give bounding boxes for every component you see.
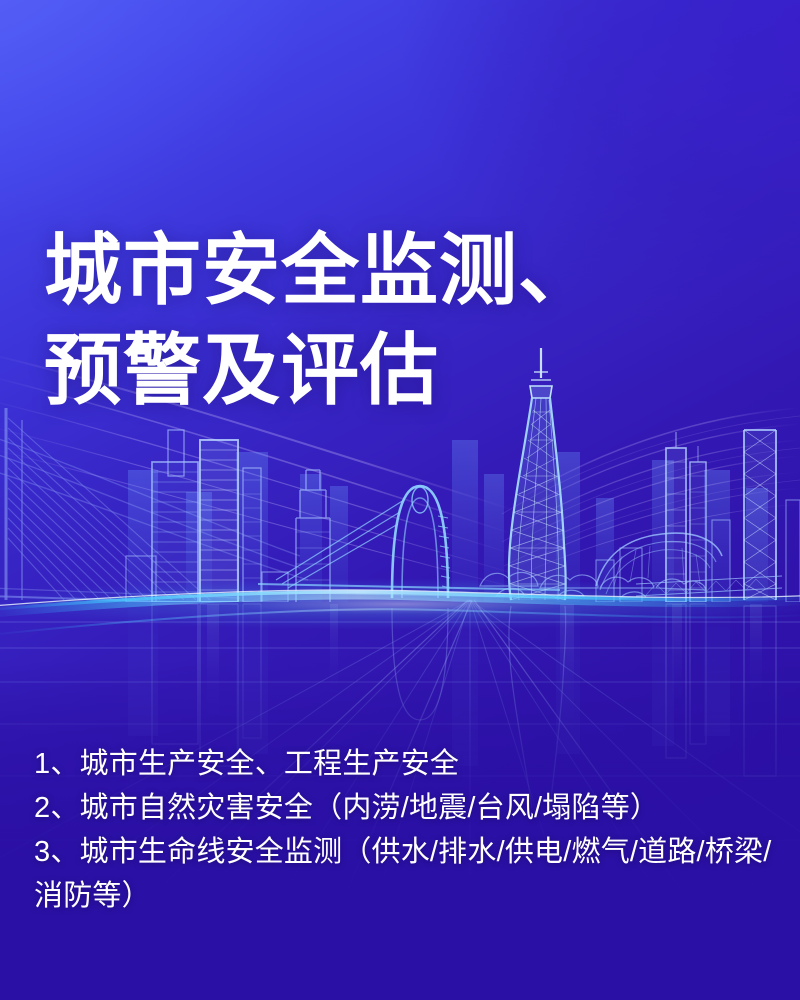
list-item: 2、城市自然灾害安全（内涝/地震/台风/塌陷等） — [34, 786, 786, 830]
list-item: 3、城市生命线安全监测（供水/排水/供电/燃气/道路/桥梁/消防等） — [34, 830, 786, 918]
twin-towers — [666, 432, 706, 602]
list-item: 1、城市生产安全、工程生产安全 — [34, 742, 786, 786]
diagrid-tower — [744, 430, 776, 600]
topic-list: 1、城市生产安全、工程生产安全 2、城市自然灾害安全（内涝/地震/台风/塌陷等）… — [34, 742, 786, 918]
page-title: 城市安全监测、 预警及评估 — [44, 220, 764, 420]
poster-root: 城市安全监测、 预警及评估 1、城市生产安全、工程生产安全 2、城市自然灾害安全… — [0, 0, 800, 1000]
